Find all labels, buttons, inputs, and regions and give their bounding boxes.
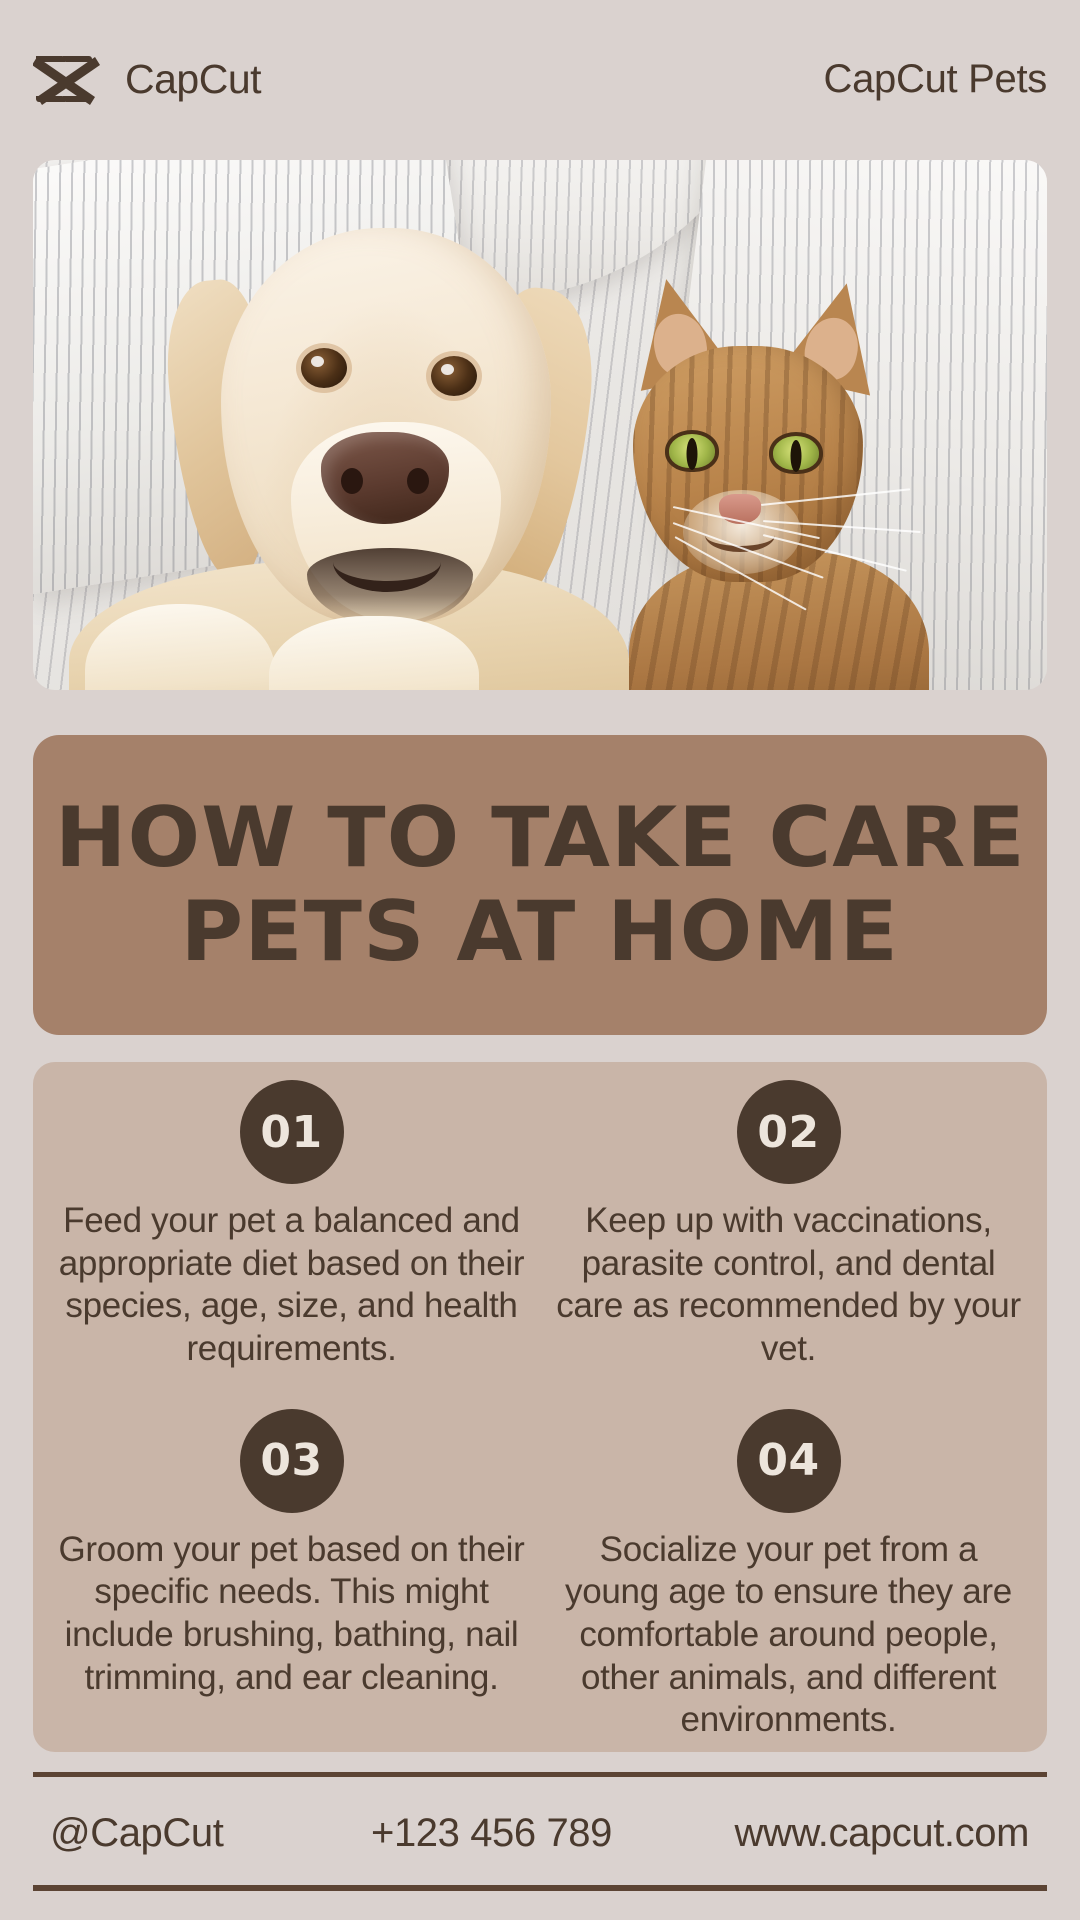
header: CapCut CapCut Pets — [33, 48, 1047, 110]
footer-rule-top — [33, 1772, 1047, 1777]
page-title-line-2: PETS AT HOME — [181, 887, 899, 977]
tip-text: Feed your pet a balanced and appropriate… — [55, 1200, 528, 1371]
tip-number: 02 — [757, 1107, 819, 1158]
brand-name: CapCut — [125, 56, 261, 103]
tip-number: 04 — [757, 1435, 819, 1486]
dog-mouth — [333, 532, 441, 592]
footer-social-handle[interactable]: @CapCut — [33, 1811, 333, 1856]
tip-badge-01: 01 — [240, 1080, 344, 1184]
tip-item-03: 03 Groom your pet based on their specifi… — [55, 1409, 528, 1742]
cat-eye-right — [769, 432, 823, 474]
footer-website[interactable]: www.capcut.com — [663, 1811, 1047, 1856]
hero-image — [33, 160, 1047, 690]
tip-text: Socialize your pet from a young age to e… — [552, 1529, 1025, 1742]
tip-item-01: 01 Feed your pet a balanced and appropri… — [55, 1080, 528, 1403]
dog-eye-right — [431, 356, 477, 396]
capcut-logo-icon — [33, 51, 103, 107]
hero-illustration — [33, 160, 1047, 690]
tip-item-04: 04 Socialize your pet from a young age t… — [552, 1409, 1025, 1742]
tip-number: 01 — [260, 1107, 322, 1158]
footer: @CapCut +123 456 789 www.capcut.com — [33, 1790, 1047, 1876]
tip-text: Groom your pet based on their specific n… — [55, 1529, 528, 1700]
tip-number: 03 — [260, 1435, 322, 1486]
dog-eye-left — [301, 348, 347, 388]
tip-badge-02: 02 — [737, 1080, 841, 1184]
footer-phone[interactable]: +123 456 789 — [333, 1811, 663, 1856]
tips-card: 01 Feed your pet a balanced and appropri… — [33, 1062, 1047, 1752]
infographic-page: CapCut CapCut Pets — [0, 0, 1080, 1920]
tip-badge-04: 04 — [737, 1409, 841, 1513]
cat-eye-left — [665, 430, 719, 472]
footer-rule-bottom — [33, 1885, 1047, 1891]
tip-text: Keep up with vaccinations, parasite cont… — [552, 1200, 1025, 1371]
tip-badge-03: 03 — [240, 1409, 344, 1513]
page-title-line-1: HOW TO TAKE CARE — [55, 793, 1026, 883]
title-band: HOW TO TAKE CARE PETS AT HOME — [33, 735, 1047, 1035]
tip-item-02: 02 Keep up with vaccinations, parasite c… — [552, 1080, 1025, 1403]
header-right-label: CapCut Pets — [824, 57, 1047, 102]
brand: CapCut — [33, 51, 261, 107]
